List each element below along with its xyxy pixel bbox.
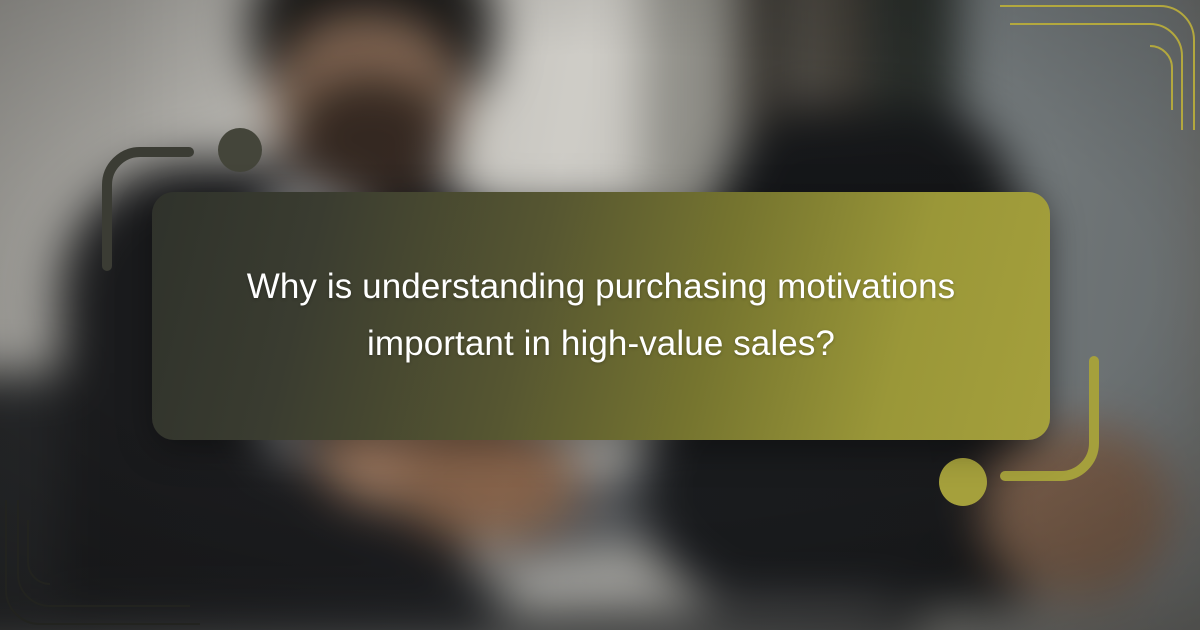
question-card: Why is understanding purchasing motivati… bbox=[152, 192, 1050, 440]
question-text: Why is understanding purchasing motivati… bbox=[196, 259, 1006, 372]
slide-canvas: Why is understanding purchasing motivati… bbox=[0, 0, 1200, 630]
